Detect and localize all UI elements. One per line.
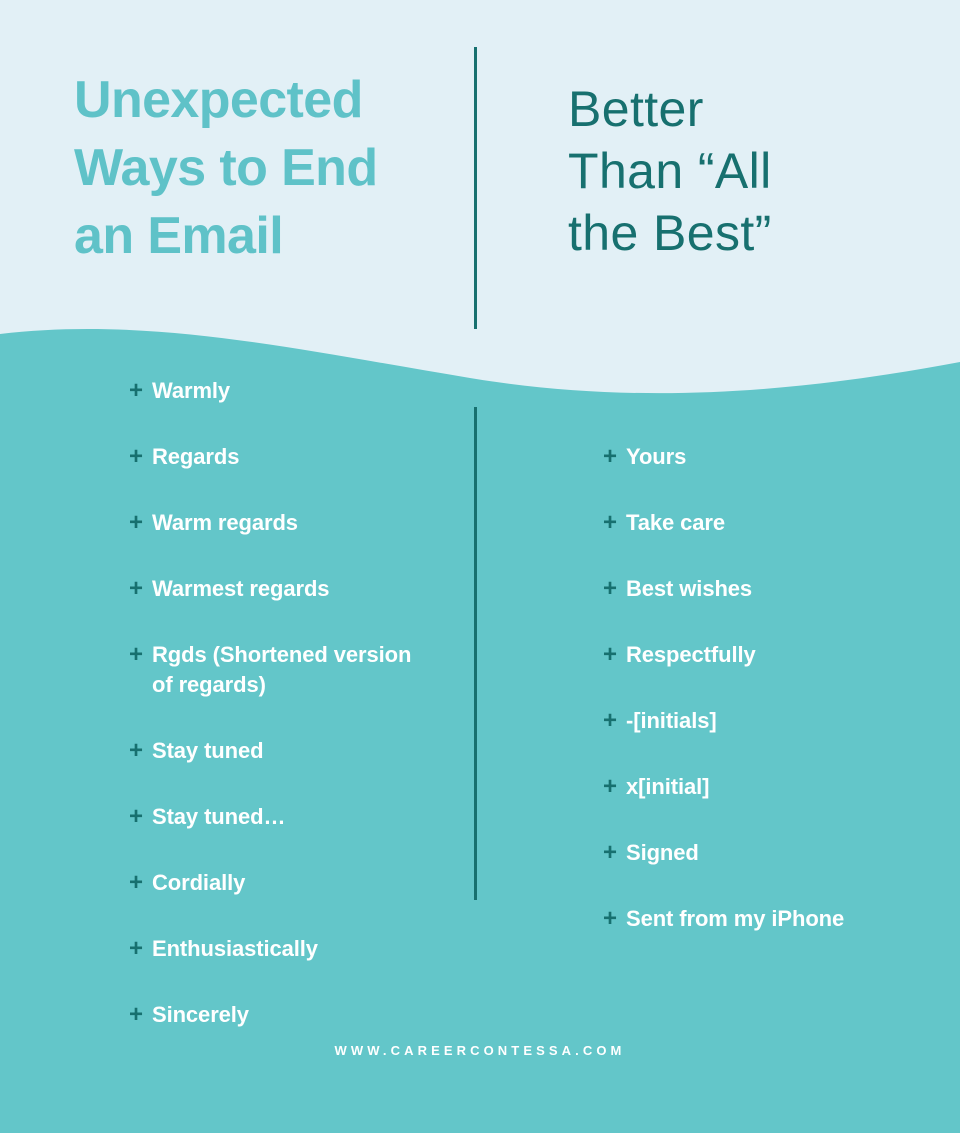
list-item: + Warm regards <box>129 508 429 538</box>
list-item-label: Yours <box>626 444 686 469</box>
list-item: + Regards <box>129 442 429 472</box>
list-item: + Best wishes <box>603 574 903 604</box>
list-item: + Sincerely <box>129 1000 429 1030</box>
plus-icon: + <box>129 443 144 471</box>
list-item: + Signed <box>603 838 903 868</box>
plus-icon: + <box>129 575 144 603</box>
list-item-label: Regards <box>152 444 239 469</box>
list-item-label: Stay tuned… <box>152 804 285 829</box>
list-item: + Stay tuned… <box>129 802 429 832</box>
list-item-label: Warm regards <box>152 510 298 535</box>
list-item: + Stay tuned <box>129 736 429 766</box>
plus-icon: + <box>129 641 144 669</box>
plus-icon: + <box>129 737 144 765</box>
plus-icon: + <box>603 905 618 933</box>
list-item-label: Warmest regards <box>152 576 329 601</box>
list-item: + Warmly <box>129 376 429 406</box>
list-vertical-divider <box>474 407 477 900</box>
list-item: + Cordially <box>129 868 429 898</box>
plus-icon: + <box>603 641 618 669</box>
plus-icon: + <box>129 509 144 537</box>
footer-website-url: WWW.CAREERCONTESSA.COM <box>0 1043 960 1058</box>
list-item-label: Best wishes <box>626 576 752 601</box>
plus-icon: + <box>603 443 618 471</box>
right-column: + Yours + Take care + Best wishes + Resp… <box>603 442 903 934</box>
list-item-label: Respectfully <box>626 642 756 667</box>
list-item: + Yours <box>603 442 903 472</box>
plus-icon: + <box>603 839 618 867</box>
list-item-label: Sincerely <box>152 1002 249 1027</box>
header: Unexpected Ways to End an Email Better T… <box>0 0 960 340</box>
infographic-poster: Unexpected Ways to End an Email Better T… <box>0 0 960 1133</box>
plus-icon: + <box>129 377 144 405</box>
left-signoff-list: + Warmly + Regards + Warm regards + Warm… <box>129 376 429 1030</box>
header-vertical-divider <box>474 47 477 329</box>
plus-icon: + <box>603 773 618 801</box>
page-subtitle: Better Than “All the Best” <box>568 78 898 264</box>
list-item-label: Cordially <box>152 870 245 895</box>
plus-icon: + <box>129 1001 144 1029</box>
list-item: + x[initial] <box>603 772 903 802</box>
plus-icon: + <box>603 707 618 735</box>
list-item: + Sent from my iPhone <box>603 904 903 934</box>
left-column: + Warmly + Regards + Warm regards + Warm… <box>129 376 429 1030</box>
list-item: + Respectfully <box>603 640 903 670</box>
plus-icon: + <box>603 509 618 537</box>
list-item-label: x[initial] <box>626 774 709 799</box>
list-item-label: Rgds (Shortened version of regards) <box>152 642 411 697</box>
list-item-label: Stay tuned <box>152 738 263 763</box>
list-item: + Warmest regards <box>129 574 429 604</box>
list-item-label: -[initials] <box>626 708 717 733</box>
list-item: + Enthusiastically <box>129 934 429 964</box>
plus-icon: + <box>603 575 618 603</box>
plus-icon: + <box>129 803 144 831</box>
plus-icon: + <box>129 935 144 963</box>
plus-icon: + <box>129 869 144 897</box>
page-title: Unexpected Ways to End an Email <box>74 66 454 270</box>
list-item-label: Sent from my iPhone <box>626 906 844 931</box>
right-signoff-list: + Yours + Take care + Best wishes + Resp… <box>603 442 903 934</box>
list-item-label: Warmly <box>152 378 230 403</box>
list-item: + -[initials] <box>603 706 903 736</box>
list-item: + Rgds (Shortened version of regards) <box>129 640 429 700</box>
list-item-label: Take care <box>626 510 725 535</box>
list-item-label: Signed <box>626 840 699 865</box>
list-item: + Take care <box>603 508 903 538</box>
list-item-label: Enthusiastically <box>152 936 318 961</box>
